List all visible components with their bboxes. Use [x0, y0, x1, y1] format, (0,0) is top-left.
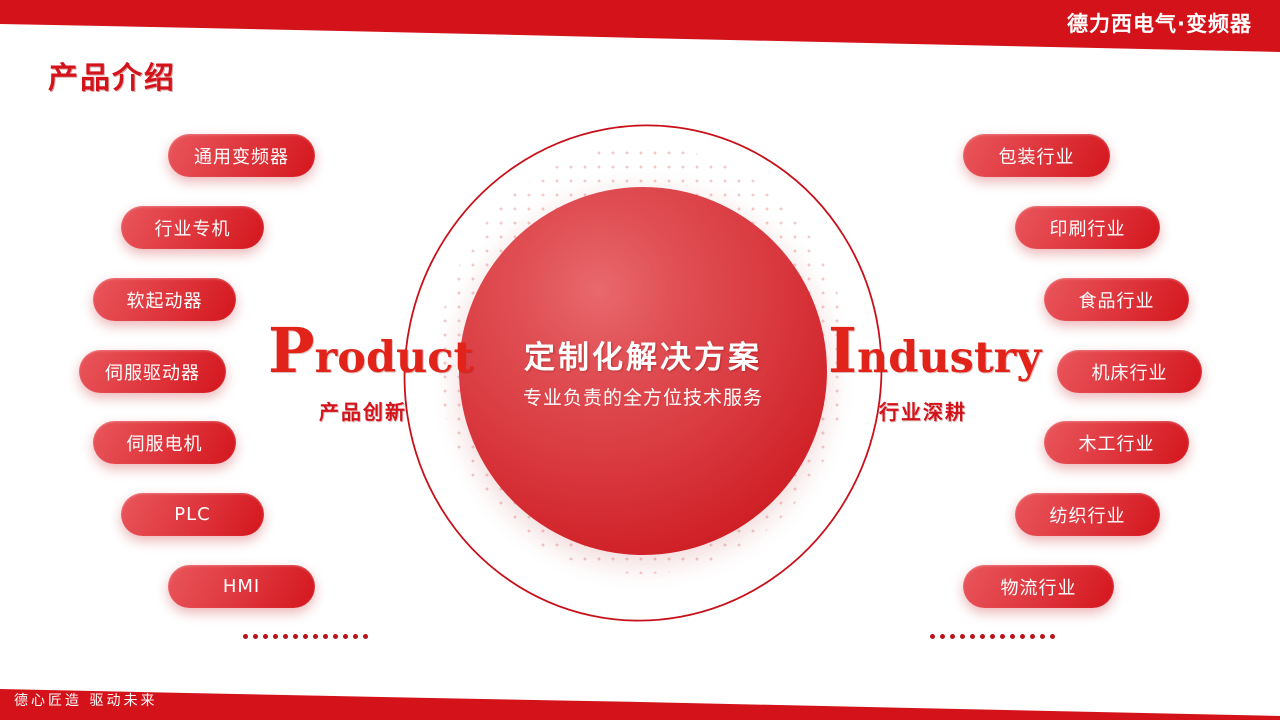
industry-pill-label: 木工行业: [1079, 430, 1155, 456]
industry-dot: [990, 634, 995, 639]
product-dot: [363, 634, 368, 639]
industry-dot: [930, 634, 935, 639]
industry-pill-label: 纺织行业: [1050, 502, 1126, 528]
product-dot: [313, 634, 318, 639]
industry-pill-label: 包装行业: [999, 143, 1075, 169]
center-title: 定制化解决方案: [524, 332, 762, 377]
product-heading-en: Product: [268, 320, 458, 382]
product-pill-label: HMI: [223, 576, 260, 597]
industry-dot: [1010, 634, 1015, 639]
industry-dot: [1020, 634, 1025, 639]
industry-heading-en: Industry: [828, 320, 1018, 382]
product-pill-label: 伺服驱动器: [105, 359, 200, 385]
industry-heading-rest: ndustry: [857, 333, 1041, 383]
industry-pill-4[interactable]: 木工行业: [1044, 421, 1189, 464]
industry-heading-cn: 行业深耕: [828, 396, 1018, 425]
brand-logo-text: 德力西电气·变频器: [1067, 8, 1252, 38]
industry-dot: [1000, 634, 1005, 639]
center-subtitle: 专业负责的全方位技术服务: [523, 383, 763, 410]
bottom-banner: 德心匠造 驱动未来: [0, 675, 1280, 720]
industry-pill-label: 印刷行业: [1050, 215, 1126, 241]
product-heading-cap: P: [268, 314, 315, 387]
product-dots-decor: [243, 634, 368, 639]
product-pill-0[interactable]: 通用变频器: [168, 134, 315, 177]
industry-dot: [1040, 634, 1045, 639]
industry-dot: [940, 634, 945, 639]
product-pill-4[interactable]: 伺服电机: [93, 421, 236, 464]
product-pill-5[interactable]: PLC: [121, 493, 264, 536]
industry-pill-0[interactable]: 包装行业: [963, 134, 1110, 177]
product-dot: [303, 634, 308, 639]
industry-pill-3[interactable]: 机床行业: [1057, 350, 1202, 393]
product-pill-6[interactable]: HMI: [168, 565, 315, 608]
product-dot: [263, 634, 268, 639]
industry-heading-group: Industry 行业深耕: [828, 320, 1018, 425]
product-dot: [353, 634, 358, 639]
center-sphere-text: 定制化解决方案 专业负责的全方位技术服务: [459, 187, 827, 555]
slide-canvas: 德力西电气·变频器 产品介绍 定制化解决方案 专业负责的全方位技术服务 Prod…: [0, 0, 1280, 720]
product-heading-rest: roduct: [315, 333, 474, 383]
page-title: 产品介绍: [48, 53, 176, 97]
industry-dot: [970, 634, 975, 639]
product-heading-group: Product 产品创新: [268, 320, 458, 425]
product-pill-label: 行业专机: [155, 215, 231, 241]
industry-dot: [1030, 634, 1035, 639]
product-dot: [243, 634, 248, 639]
industry-pill-2[interactable]: 食品行业: [1044, 278, 1189, 321]
product-pill-1[interactable]: 行业专机: [121, 206, 264, 249]
industry-heading-cap: I: [828, 314, 857, 387]
industry-dot: [960, 634, 965, 639]
top-banner: 德力西电气·变频器: [0, 0, 1280, 52]
footer-slogan: 德心匠造 驱动未来: [14, 690, 157, 710]
product-heading-cn: 产品创新: [268, 396, 458, 425]
product-dot: [343, 634, 348, 639]
industry-pill-6[interactable]: 物流行业: [963, 565, 1114, 608]
product-pill-label: 通用变频器: [194, 143, 289, 169]
product-pill-label: 软起动器: [127, 287, 203, 313]
industry-dots-decor: [930, 634, 1055, 639]
industry-dot: [1050, 634, 1055, 639]
industry-pill-label: 机床行业: [1092, 359, 1168, 385]
product-dot: [273, 634, 278, 639]
industry-pill-1[interactable]: 印刷行业: [1015, 206, 1160, 249]
product-dot: [333, 634, 338, 639]
product-pill-2[interactable]: 软起动器: [93, 278, 236, 321]
product-dot: [293, 634, 298, 639]
product-dot: [323, 634, 328, 639]
product-dot: [253, 634, 258, 639]
industry-dot: [980, 634, 985, 639]
industry-pill-label: 食品行业: [1079, 287, 1155, 313]
product-pill-3[interactable]: 伺服驱动器: [79, 350, 226, 393]
bottom-banner-shape: [0, 675, 1280, 720]
product-pill-label: 伺服电机: [127, 430, 203, 456]
product-dot: [283, 634, 288, 639]
industry-dot: [950, 634, 955, 639]
industry-pill-5[interactable]: 纺织行业: [1015, 493, 1160, 536]
industry-pill-label: 物流行业: [1001, 574, 1077, 600]
product-pill-label: PLC: [174, 504, 210, 525]
